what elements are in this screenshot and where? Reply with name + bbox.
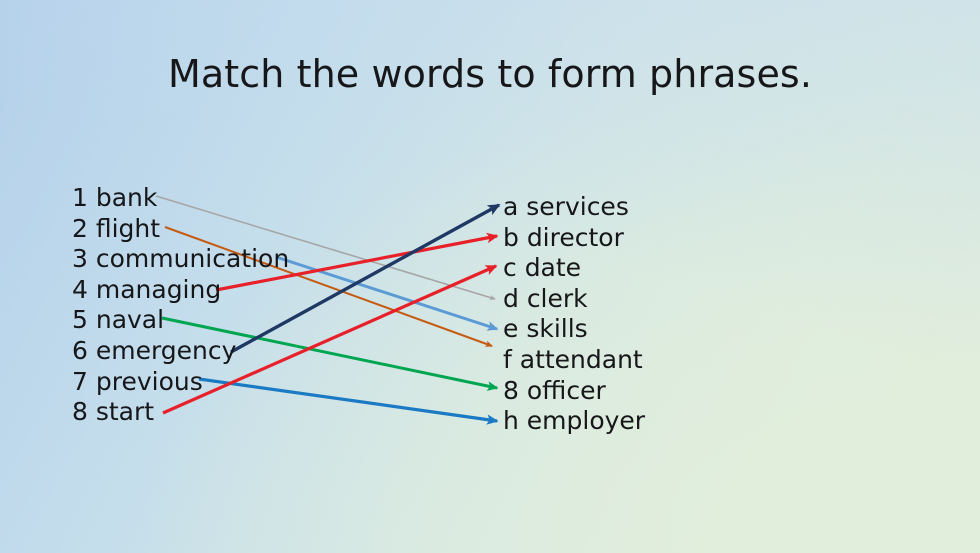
right-item-g[interactable]: 8 officer [503,376,645,407]
right-item-e[interactable]: e skills [503,314,645,345]
right-item-b[interactable]: b director [503,223,645,254]
right-item-d[interactable]: d clerk [503,284,645,315]
page-title: Match the words to form phrases. [0,52,980,96]
left-item-1[interactable]: 1 bank [72,183,289,214]
left-item-2[interactable]: 2 flight [72,214,289,245]
left-item-4[interactable]: 4 managing [72,275,289,306]
left-item-5[interactable]: 5 naval [72,305,289,336]
left-item-7[interactable]: 7 previous [72,367,289,398]
left-item-3[interactable]: 3 communication [72,244,289,275]
right-item-h[interactable]: h employer [503,406,645,437]
left-column: 1 bank 2 flight 3 communication 4 managi… [72,183,289,428]
slide-canvas: Match the words to form phrases. 1 bank … [0,0,980,553]
right-item-f[interactable]: f attendant [503,345,645,376]
right-column: a services b director c date d clerk e s… [503,192,645,437]
connector-communication-to-skills [276,257,497,329]
left-item-6[interactable]: 6 emergency [72,336,289,367]
right-item-c[interactable]: c date [503,253,645,284]
right-item-a[interactable]: a services [503,192,645,223]
left-item-8[interactable]: 8 start [72,397,289,428]
